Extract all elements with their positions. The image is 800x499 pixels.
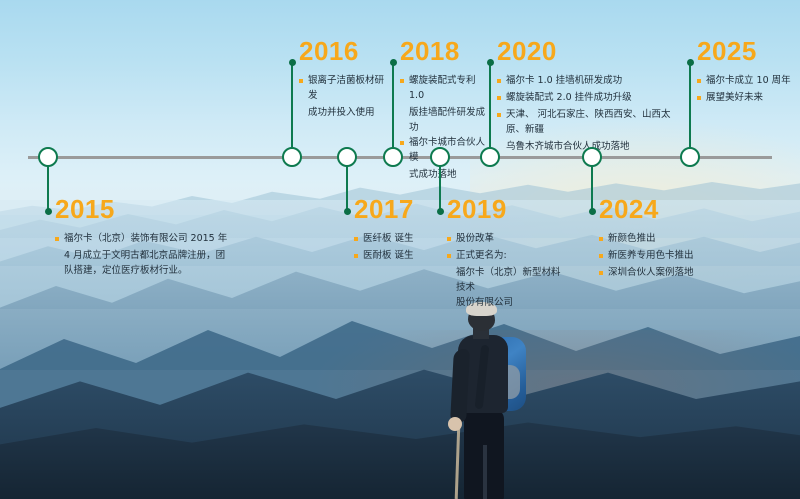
milestone-list-2018: 螺旋装配式专利 1.0版挂墙配件研发成功福尔卡城市合伙人模式成功落地 (400, 73, 492, 182)
milestone-item: 股份改革 (447, 231, 567, 246)
timeline-node-2025[interactable] (680, 147, 700, 167)
milestone-item-continuation: 股份有限公司 (447, 295, 567, 310)
milestone-list-2015: 福尔卡（北京）装饰有限公司 2015 年4 月成立于文明古都北京品牌注册，团队搭… (55, 231, 235, 278)
milestone-item: 福尔卡 1.0 挂墙机研发成功 (497, 73, 677, 88)
milestone-item: 正式更名为: (447, 248, 567, 263)
hiker-figure (440, 305, 560, 499)
milestone-list-2020: 福尔卡 1.0 挂墙机研发成功螺旋装配式 2.0 挂件成功升级天津、 河北石家庄… (497, 73, 677, 154)
year-label-2020: 2020 (497, 38, 677, 64)
milestone-item: 福尔卡（北京）装饰有限公司 2015 年 (55, 231, 235, 246)
timeline-node-2015[interactable] (38, 147, 58, 167)
milestone-item: 福尔卡成立 10 周年 (697, 73, 800, 88)
milestone-list-2016: 银离子洁菌板材研发成功并投入使用 (299, 73, 391, 120)
timeline-stem-dot-2016 (289, 59, 296, 66)
milestone-item: 深圳合伙人案例落地 (599, 265, 719, 280)
timeline-node-2019[interactable] (430, 147, 450, 167)
timeline-entry-2024: 2024新颜色推出新医养专用色卡推出深圳合伙人案例落地 (599, 196, 719, 282)
timeline-entry-2017: 2017医纤板 诞生医耐板 诞生 (354, 196, 440, 265)
timeline-stem-2018 (392, 62, 395, 157)
timeline-stem-dot-2018 (390, 59, 397, 66)
timeline-stem-2020 (489, 62, 492, 157)
milestone-list-2017: 医纤板 诞生医耐板 诞生 (354, 231, 440, 263)
hiker-hand (448, 417, 462, 431)
milestone-list-2019: 股份改革正式更名为:福尔卡（北京）新型材料技术股份有限公司 (447, 231, 567, 310)
year-label-2025: 2025 (697, 38, 800, 64)
year-label-2017: 2017 (354, 196, 440, 222)
milestone-item: 天津、 河北石家庄、陕西西安、山西太原、新疆 (497, 107, 677, 137)
timeline-entry-2025: 2025福尔卡成立 10 周年展望美好未来 (697, 38, 800, 107)
timeline-stem-dot-2019 (437, 208, 444, 215)
timeline-stem-dot-2020 (487, 59, 494, 66)
milestone-item: 医纤板 诞生 (354, 231, 440, 246)
infographic-canvas: 2015福尔卡（北京）装饰有限公司 2015 年4 月成立于文明古都北京品牌注册… (0, 0, 800, 499)
timeline-node-2016[interactable] (282, 147, 302, 167)
timeline-stem-2019 (439, 166, 442, 212)
year-label-2018: 2018 (400, 38, 492, 64)
milestone-item-continuation: 成功并投入使用 (299, 105, 391, 120)
milestone-item-continuation: 4 月成立于文明古都北京品牌注册，团 (55, 248, 235, 263)
milestone-item: 医耐板 诞生 (354, 248, 440, 263)
milestone-item-continuation: 队搭建，定位医疗板材行业。 (55, 263, 235, 278)
milestone-item-continuation: 福尔卡（北京）新型材料技术 (447, 265, 567, 295)
timeline-node-2017[interactable] (337, 147, 357, 167)
timeline-entry-2015: 2015福尔卡（北京）装饰有限公司 2015 年4 月成立于文明古都北京品牌注册… (55, 196, 235, 278)
timeline-stem-2016 (291, 62, 294, 157)
timeline-node-2024[interactable] (582, 147, 602, 167)
year-label-2015: 2015 (55, 196, 235, 222)
milestone-item-continuation: 式成功落地 (400, 167, 492, 182)
milestone-item-continuation: 版挂墙配件研发成功 (400, 105, 492, 135)
timeline-stem-2025 (689, 62, 692, 157)
year-label-2019: 2019 (447, 196, 567, 222)
timeline-stem-2017 (346, 166, 349, 212)
milestone-list-2025: 福尔卡成立 10 周年展望美好未来 (697, 73, 800, 105)
year-label-2024: 2024 (599, 196, 719, 222)
hiker-leg-split (483, 445, 487, 499)
milestone-list-2024: 新颜色推出新医养专用色卡推出深圳合伙人案例落地 (599, 231, 719, 280)
year-label-2016: 2016 (299, 38, 391, 64)
milestone-item: 银离子洁菌板材研发 (299, 73, 391, 103)
milestone-item: 螺旋装配式专利 1.0 (400, 73, 492, 103)
timeline-stem-dot-2025 (687, 59, 694, 66)
trekking-pole (455, 425, 461, 499)
timeline-stem-dot-2024 (589, 208, 596, 215)
timeline-entry-2016: 2016银离子洁菌板材研发成功并投入使用 (299, 38, 391, 120)
milestone-item: 新颜色推出 (599, 231, 719, 246)
timeline-stem-2015 (47, 166, 50, 212)
milestone-item: 螺旋装配式 2.0 挂件成功升级 (497, 90, 677, 105)
timeline-stem-dot-2015 (45, 208, 52, 215)
milestone-item: 展望美好未来 (697, 90, 800, 105)
timeline-stem-dot-2017 (344, 208, 351, 215)
timeline-entry-2020: 2020福尔卡 1.0 挂墙机研发成功螺旋装配式 2.0 挂件成功升级天津、 河… (497, 38, 677, 154)
milestone-item: 新医养专用色卡推出 (599, 248, 719, 263)
timeline-entry-2019: 2019股份改革正式更名为:福尔卡（北京）新型材料技术股份有限公司 (447, 196, 567, 310)
timeline-stem-2024 (591, 166, 594, 212)
